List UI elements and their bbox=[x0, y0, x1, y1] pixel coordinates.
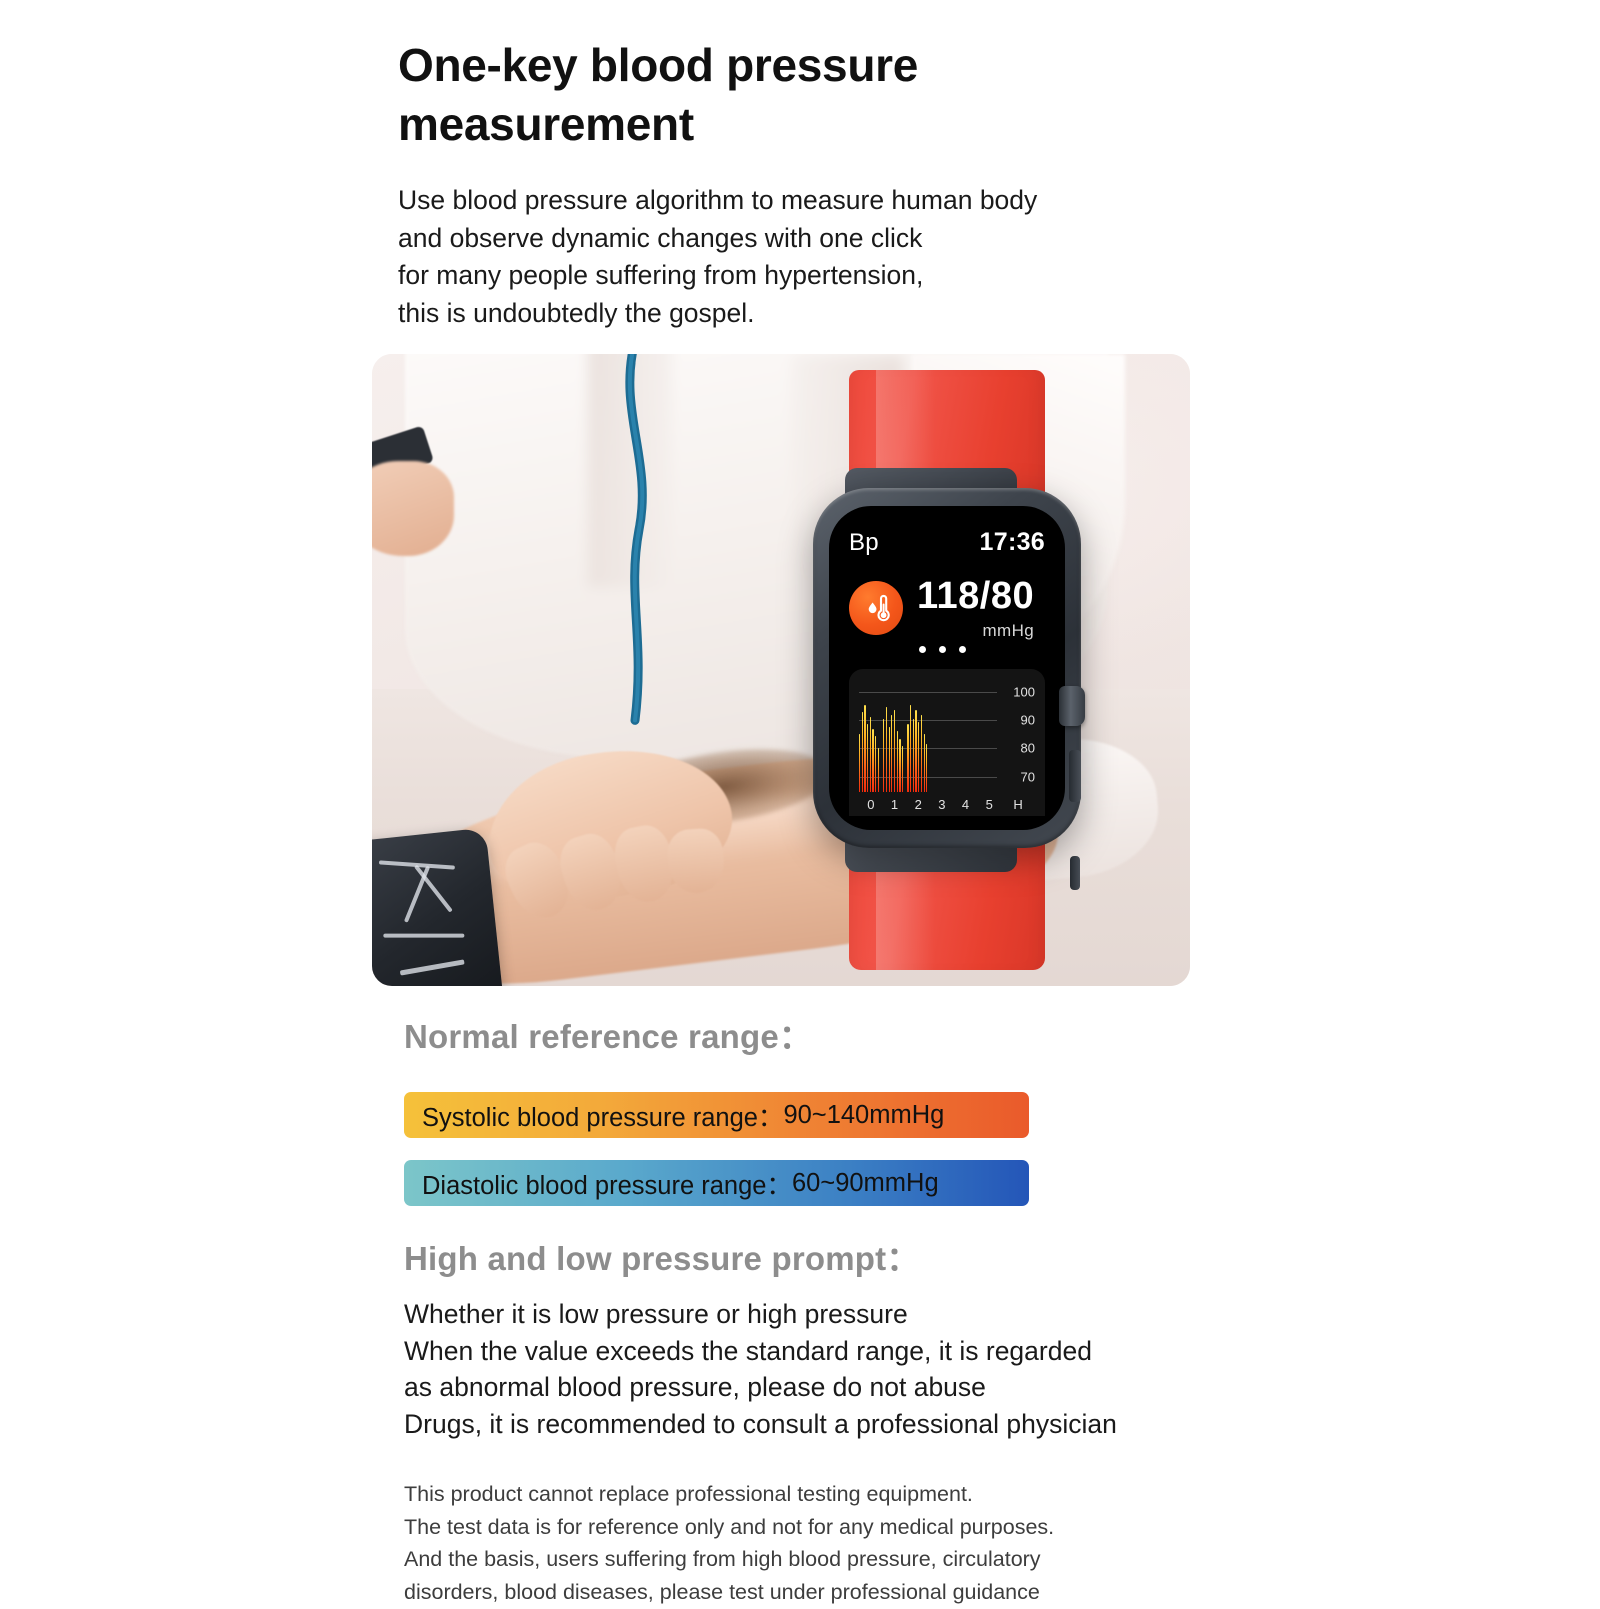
thermometer-droplet-icon bbox=[849, 581, 903, 635]
bar bbox=[859, 734, 860, 792]
prompt-paragraph: Whether it is low pressure or high press… bbox=[404, 1296, 1194, 1442]
normal-range-heading: Normal reference range： bbox=[404, 1010, 812, 1058]
bar bbox=[886, 707, 887, 792]
bar bbox=[894, 710, 895, 792]
disclaimer-line: This product cannot replace professional… bbox=[404, 1478, 1164, 1511]
intro-line: for many people suffering from hypertens… bbox=[398, 257, 1138, 295]
watch-crown-button[interactable] bbox=[1059, 686, 1085, 726]
prompt-line: Whether it is low pressure or high press… bbox=[404, 1296, 1194, 1333]
bar bbox=[878, 748, 879, 792]
intro-paragraph: Use blood pressure algorithm to measure … bbox=[398, 182, 1138, 333]
x-axis-unit-label: H bbox=[1001, 797, 1035, 812]
bar bbox=[902, 746, 903, 792]
bar bbox=[913, 719, 914, 792]
bar bbox=[875, 736, 876, 792]
prompt-line: Drugs, it is recommended to consult a pr… bbox=[404, 1406, 1194, 1443]
chart-plot-area: 100 90 80 70 bbox=[859, 683, 1035, 792]
watch-clock: 17:36 bbox=[980, 528, 1045, 557]
bar bbox=[870, 717, 871, 792]
disclaimer-line: disorders, blood diseases, please test u… bbox=[404, 1576, 1164, 1609]
cuff-marking bbox=[400, 959, 465, 975]
bar bbox=[921, 715, 922, 793]
y-tick-label: 70 bbox=[1021, 770, 1035, 783]
intro-line: Use blood pressure algorithm to measure … bbox=[398, 182, 1138, 220]
cuff-marking bbox=[404, 865, 430, 922]
smartwatch: Bp 17:36 bbox=[797, 370, 1097, 970]
prompt-heading: High and low pressure prompt： bbox=[404, 1232, 920, 1280]
x-tick-label: 0 bbox=[859, 797, 883, 812]
y-tick-label: 90 bbox=[1021, 714, 1035, 727]
diastolic-range-bar: Diastolic blood pressure range： 60~90mmH… bbox=[404, 1160, 1029, 1206]
x-tick-label: 4 bbox=[954, 797, 978, 812]
x-tick-label: 5 bbox=[977, 797, 1001, 812]
bar bbox=[867, 724, 868, 792]
bp-history-chart: 100 90 80 70 0 1 2 3 4 5 bbox=[849, 669, 1045, 816]
doctor-second-hand bbox=[372, 461, 454, 556]
diastolic-range-label: Diastolic blood pressure range： bbox=[422, 1165, 792, 1202]
page-indicator-dots[interactable] bbox=[919, 646, 1045, 653]
y-tick-label: 80 bbox=[1021, 742, 1035, 755]
disclaimer-line: The test data is for reference only and … bbox=[404, 1511, 1164, 1544]
bar-series bbox=[859, 683, 997, 792]
systolic-range-bar: Systolic blood pressure range： 90~140mmH… bbox=[404, 1092, 1029, 1138]
product-photo: Bp 17:36 bbox=[372, 354, 1190, 986]
systolic-range-label: Systolic blood pressure range： bbox=[422, 1097, 783, 1134]
chart-x-axis: 0 1 2 3 4 5 H bbox=[859, 797, 1035, 812]
bar bbox=[918, 722, 919, 792]
x-tick-label: 2 bbox=[906, 797, 930, 812]
diastolic-range-value: 60~90mmHg bbox=[792, 1169, 939, 1198]
intro-line: this is undoubtedly the gospel. bbox=[398, 295, 1138, 333]
bar bbox=[899, 739, 900, 792]
bar bbox=[926, 744, 927, 792]
systolic-range-value: 90~140mmHg bbox=[783, 1101, 944, 1130]
bar bbox=[872, 729, 873, 792]
disclaimer-line: And the basis, users suffering from high… bbox=[404, 1543, 1164, 1576]
y-tick-label: 100 bbox=[1013, 685, 1035, 698]
bar bbox=[889, 727, 890, 792]
bar bbox=[883, 719, 884, 792]
bar bbox=[897, 731, 898, 792]
chart-y-axis: 100 90 80 70 bbox=[1001, 683, 1035, 792]
prompt-line: as abnormal blood pressure, please do no… bbox=[404, 1369, 1194, 1406]
bp-value: 118/80 bbox=[917, 577, 1034, 615]
product-feature-page: One-key blood pressure measurement Use b… bbox=[0, 0, 1600, 1600]
watch-screen[interactable]: Bp 17:36 bbox=[829, 506, 1065, 830]
page-title: One-key blood pressure measurement bbox=[398, 36, 1118, 154]
bar bbox=[910, 705, 911, 792]
intro-line: and observe dynamic changes with one cli… bbox=[398, 220, 1138, 258]
watch-status-bar: Bp 17:36 bbox=[849, 528, 1045, 557]
blood-pressure-cuff bbox=[372, 828, 504, 986]
bar bbox=[891, 715, 892, 793]
disclaimer-paragraph: This product cannot replace professional… bbox=[404, 1478, 1164, 1609]
page-dot bbox=[959, 646, 966, 653]
page-dot bbox=[919, 646, 926, 653]
watch-case: Bp 17:36 bbox=[813, 488, 1081, 848]
chart-bars-region bbox=[859, 683, 997, 792]
bar bbox=[907, 724, 908, 792]
bp-unit: mmHg bbox=[982, 622, 1034, 639]
bar bbox=[915, 710, 916, 792]
page-dot bbox=[939, 646, 946, 653]
stethoscope-icon bbox=[605, 354, 665, 758]
watch-side-button[interactable] bbox=[1069, 750, 1081, 802]
bar bbox=[864, 705, 865, 792]
bp-value-group: 118/80 mmHg bbox=[917, 577, 1034, 639]
watch-mode-label: Bp bbox=[849, 529, 879, 557]
bp-reading-row: 118/80 mmHg bbox=[849, 577, 1045, 639]
bar bbox=[862, 712, 863, 792]
bar bbox=[924, 734, 925, 792]
cuff-marking bbox=[383, 934, 464, 938]
x-tick-label: 3 bbox=[930, 797, 954, 812]
prompt-line: When the value exceeds the standard rang… bbox=[404, 1333, 1194, 1370]
x-tick-label: 1 bbox=[883, 797, 907, 812]
watch-speaker-grill bbox=[1070, 856, 1080, 890]
